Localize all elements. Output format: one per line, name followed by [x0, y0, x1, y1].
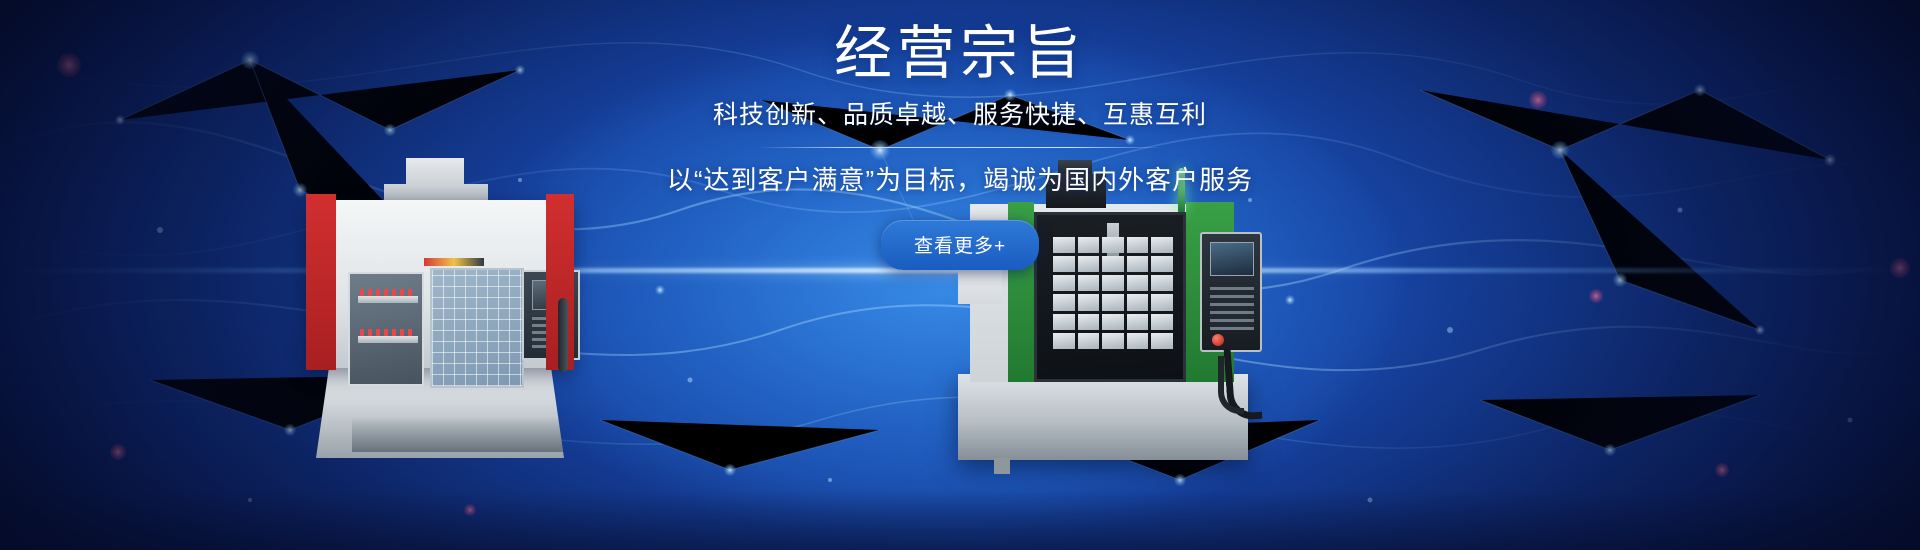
view-more-button[interactable]: 查看更多+: [881, 220, 1039, 270]
button-container: 查看更多+: [600, 220, 1320, 270]
promo-banner: 经营宗旨 科技创新、品质卓越、服务快捷、互惠互利 以“达到客户满意”为目标，竭诚…: [0, 0, 1920, 550]
banner-tagline: 以“达到客户满意”为目标，竭诚为国内外客户服务: [600, 164, 1320, 198]
banner-subtitle: 科技创新、品质卓越、服务快捷、互惠互利: [600, 99, 1320, 132]
divider: [761, 147, 1159, 148]
page-title: 经营宗旨: [600, 22, 1320, 87]
bottom-shadow-gradient: [0, 490, 1920, 550]
banner-content: 经营宗旨 科技创新、品质卓越、服务快捷、互惠互利 以“达到客户满意”为目标，竭诚…: [600, 22, 1320, 270]
cnc-machine-left-image: [288, 148, 598, 458]
